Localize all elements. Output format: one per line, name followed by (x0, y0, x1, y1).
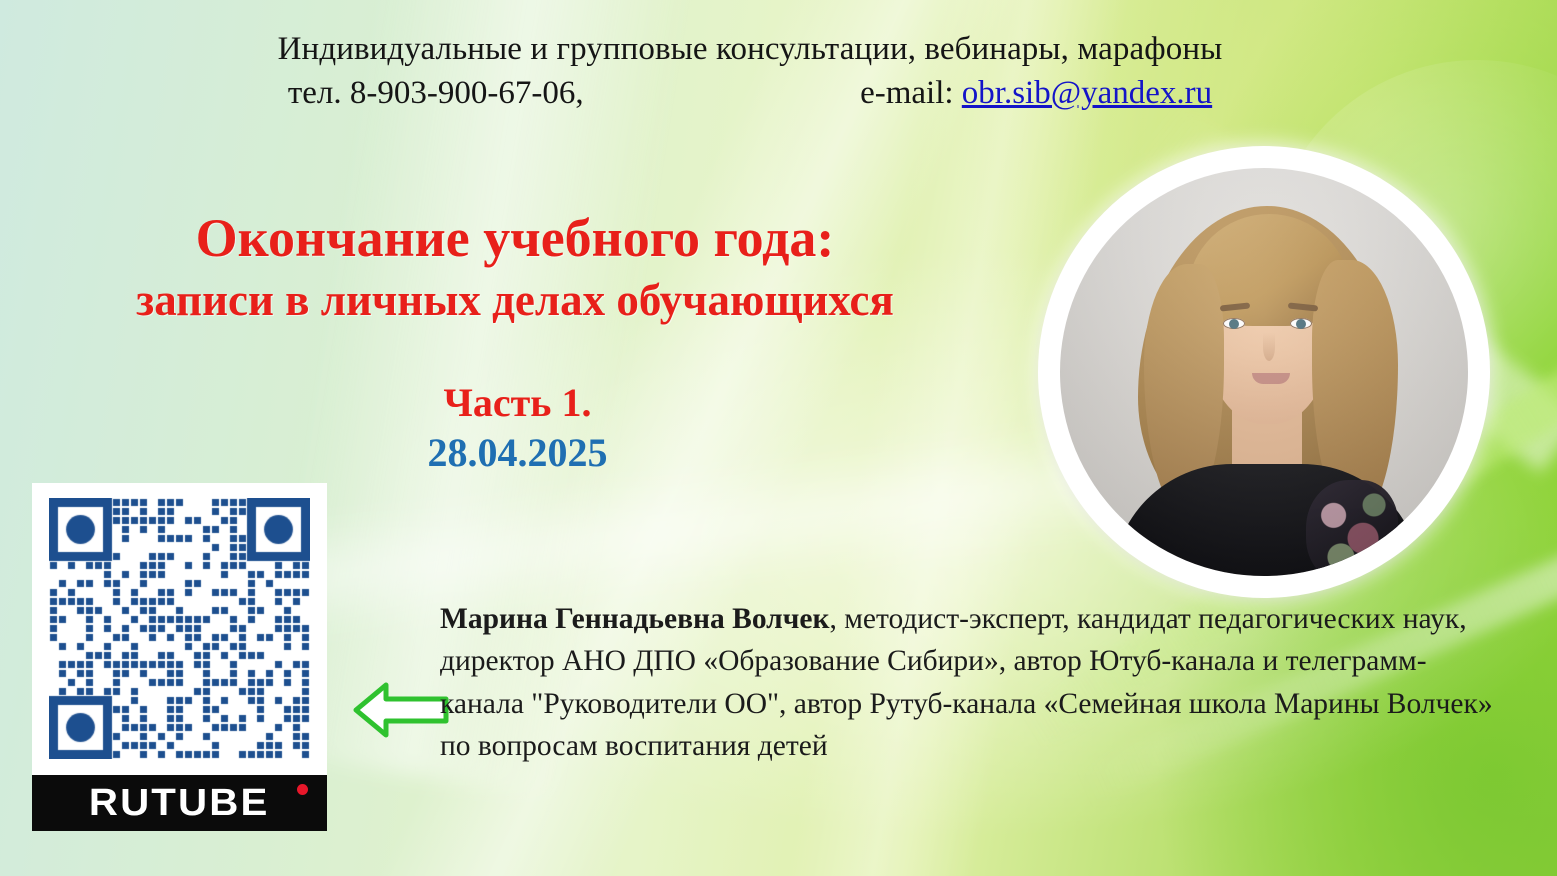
part-label: Часть 1. (0, 380, 1035, 426)
qr-code-canvas[interactable] (49, 498, 310, 759)
rutube-wordmark: RUTUBE (89, 782, 270, 825)
page-title: Окончание учебного года: записи в личных… (0, 208, 1030, 327)
left-arrow-icon (352, 679, 450, 741)
portrait-shading (1060, 168, 1468, 576)
rutube-logo[interactable]: RUTUBE (32, 775, 327, 831)
portrait-image (1060, 168, 1468, 576)
title-line-1: Окончание учебного года: (0, 208, 1030, 268)
date-label: 28.04.2025 (0, 430, 1035, 476)
part-and-date: Часть 1. 28.04.2025 (0, 380, 1035, 476)
email-label: e-mail: (860, 72, 953, 114)
qr-code[interactable] (32, 483, 327, 775)
speaker-name: Марина Геннадьевна Волчек (440, 603, 829, 635)
phone-number: тел. 8-903-900-67-06, (288, 72, 584, 114)
title-line-2: записи в личных делах обучающихся (0, 274, 1030, 326)
email-link[interactable]: obr.sib@yandex.ru (962, 75, 1212, 111)
rutube-red-dot-icon (297, 784, 308, 795)
contact-line: тел. 8-903-900-67-06, e-mail: obr.sib@ya… (0, 72, 1500, 114)
slide-canvas: Индивидуальные и групповые консультации,… (0, 0, 1557, 876)
qr-block[interactable]: RUTUBE (32, 483, 327, 831)
speaker-portrait (1038, 146, 1490, 598)
speaker-bio: Марина Геннадьевна Волчек, методист-эксп… (440, 598, 1505, 768)
services-line: Индивидуальные и групповые консультации,… (0, 28, 1500, 70)
contact-header: Индивидуальные и групповые консультации,… (0, 28, 1500, 114)
